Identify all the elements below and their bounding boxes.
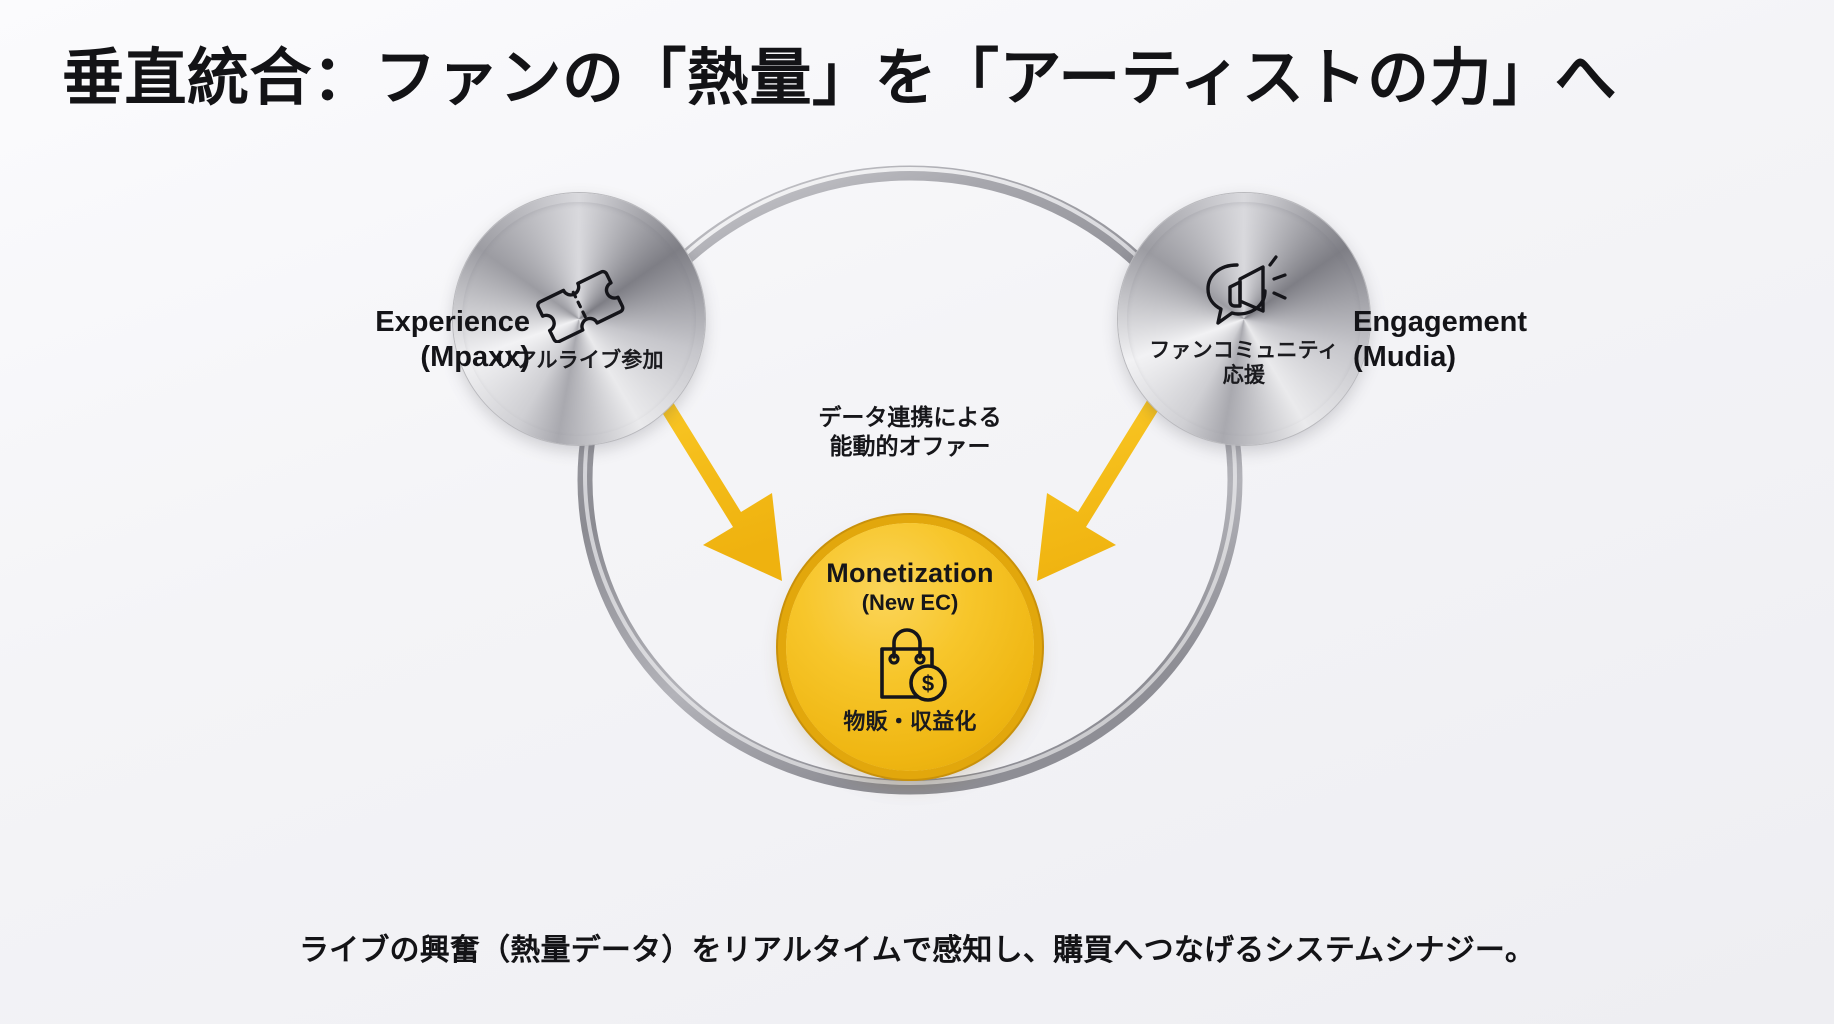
arrow-caption-line1: データ連携による — [780, 403, 1040, 432]
page-title: 垂直統合：ファンの「熱量」を「アーティストの力」へ — [62, 44, 1782, 113]
label-engagement-line1: Engagement — [1353, 305, 1593, 340]
footer-caption: ライブの興奮（熱量データ）をリアルタイムで感知し、購買へつなげるシステムシナジー… — [0, 925, 1834, 969]
ticket-icon — [531, 265, 627, 343]
shopping-bag-dollar-icon: $ — [864, 625, 956, 705]
arrow-caption: データ連携による 能動的オファー — [780, 403, 1040, 462]
svg-text:$: $ — [922, 671, 934, 696]
node-monetization-title: Monetization — [826, 559, 993, 589]
vertical-integration-diagram: リアルライブ参加 ファンコミュニティ 応援 — [0, 150, 1834, 880]
node-monetization-subtitle: (New EC) — [862, 591, 959, 615]
arrow-caption-line2: 能動的オファー — [780, 432, 1040, 461]
node-engagement-caption: ファンコミュニティ 応援 — [1149, 339, 1339, 389]
label-experience-line1: Experience — [340, 305, 530, 340]
label-engagement: Engagement (Mudia) — [1353, 305, 1593, 376]
megaphone-speech-icon — [1196, 249, 1292, 333]
node-engagement[interactable]: ファンコミュニティ 応援 — [1118, 193, 1370, 445]
node-engagement-caption-line1: ファンコミュニティ — [1149, 339, 1339, 364]
node-monetization[interactable]: Monetization (New EC) $ 物販・収益化 — [786, 523, 1034, 771]
label-experience-line2: (Mpaxx) — [340, 340, 530, 375]
label-experience: Experience (Mpaxx) — [340, 305, 530, 376]
slide-canvas: 垂直統合：ファンの「熱量」を「アーティストの力」へ — [0, 0, 1834, 1024]
node-engagement-caption-line2: 応援 — [1149, 364, 1339, 389]
label-engagement-line2: (Mudia) — [1353, 340, 1593, 375]
node-monetization-caption: 物販・収益化 — [843, 709, 976, 735]
